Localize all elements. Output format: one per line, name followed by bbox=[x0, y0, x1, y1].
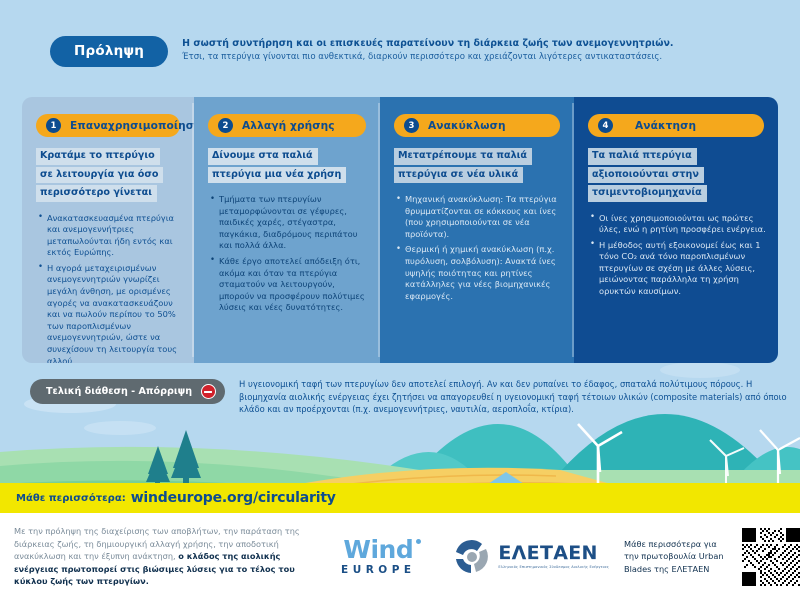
disposal-pill-label: Τελική διάθεση - Απόρριψη bbox=[46, 386, 192, 397]
eletaen-logo-subtitle: Ελληνικός Επιστημονικός Σύνδεσμος Αιολικ… bbox=[498, 566, 609, 570]
windeurope-logo: Wind EUROPE bbox=[322, 538, 434, 576]
eletaen-logo-name: ΕΛΕΤΑΕΝ bbox=[498, 544, 609, 563]
step-title-2: Αλλαγή χρήσης bbox=[242, 120, 335, 132]
disposal-text: Η υγειονομική ταφή των πτερυγίων δεν απο… bbox=[239, 378, 790, 416]
step-lead-line: Δίνουμε στα παλιά bbox=[208, 148, 318, 165]
step-number-badge-2: 2 bbox=[218, 118, 233, 133]
step-lead-line: περισσότερο γίνεται bbox=[36, 185, 157, 202]
header-text-block: Η σωστή συντήρηση και οι επισκευές παρατ… bbox=[182, 37, 673, 64]
step-lead-line: Κρατάμε το πτερύγιο bbox=[36, 148, 160, 165]
step-bullets-2: Τμήματα των πτερυγίων μεταμορφώνονται σε… bbox=[210, 194, 368, 314]
step-number-badge-1: 1 bbox=[46, 118, 61, 133]
header: Πρόληψη Η σωστή συντήρηση και οι επισκευ… bbox=[0, 34, 800, 82]
step-lead-line: σε λειτουργία για όσο bbox=[36, 167, 163, 184]
step-column-4: 4 Ανάκτηση Τα παλιά πτερύγια αξιοποιούντ… bbox=[574, 97, 778, 363]
lifecycle-panel: 1 Επαναχρησιμοποίηση Κρατάμε το πτερύγιο… bbox=[22, 97, 778, 363]
prevention-pill: Πρόληψη bbox=[50, 36, 168, 67]
step-bullets-3: Μηχανική ανακύκλωση: Τα πτερύγια θρυμματ… bbox=[396, 194, 562, 302]
step-number-badge-3: 3 bbox=[404, 118, 419, 133]
step-lead-2: Δίνουμε στα παλιά πτερύγια μια νέα χρήση bbox=[208, 148, 366, 183]
eletaen-emblem-icon bbox=[452, 539, 492, 575]
step-lead-line: Μετατρέπουμε τα παλιά bbox=[394, 148, 532, 165]
step-column-2: 2 Αλλαγή χρήσης Δίνουμε στα παλιά πτερύγ… bbox=[194, 97, 380, 363]
qr-caption: Μάθε περισσότερα για την πρωτοβουλία Urb… bbox=[624, 538, 732, 576]
step-number-badge-4: 4 bbox=[598, 118, 613, 133]
bullet-item: Μηχανική ανακύκλωση: Τα πτερύγια θρυμματ… bbox=[396, 194, 562, 240]
disposal-row: Τελική διάθεση - Απόρριψη Η υγειονομική … bbox=[30, 378, 790, 416]
step-lead-1: Κρατάμε το πτερύγιο σε λειτουργία για όσ… bbox=[36, 148, 180, 202]
step-header-4: 4 Ανάκτηση bbox=[588, 114, 764, 137]
step-column-3: 3 Ανακύκλωση Μετατρέπουμε τα παλιά πτερύ… bbox=[380, 97, 574, 363]
step-lead-line: πτερύγια σε νέα υλικά bbox=[394, 167, 523, 184]
step-header-3: 3 Ανακύκλωση bbox=[394, 114, 560, 137]
step-lead-line: τσιμεντοβιομηχανία bbox=[588, 185, 707, 202]
qr-block: Μάθε περισσότερα για την πρωτοβουλία Urb… bbox=[624, 528, 800, 586]
footer: Με την πρόληψη της διαχείρισης των αποβλ… bbox=[0, 513, 800, 600]
step-column-1: 1 Επαναχρησιμοποίηση Κρατάμε το πτερύγιο… bbox=[22, 97, 194, 363]
cta-bar: Μάθε περισσότερα: windeurope.org/circula… bbox=[0, 483, 800, 513]
header-line-2: Έτσι, τα πτερύγια γίνονται πιο ανθεκτικά… bbox=[182, 51, 673, 64]
windeurope-logo-main: Wind bbox=[343, 535, 413, 564]
step-lead-line: πτερύγια μια νέα χρήση bbox=[208, 167, 346, 184]
bullet-item: Τμήματα των πτερυγίων μεταμορφώνονται σε… bbox=[210, 194, 368, 252]
footer-summary-text: Με την πρόληψη της διαχείρισης των αποβλ… bbox=[0, 525, 314, 587]
windeurope-logo-wordmark: Wind bbox=[343, 538, 413, 562]
cta-url-link[interactable]: windeurope.org/circularity bbox=[131, 490, 336, 506]
step-lead-line: αξιοποιούνται στην bbox=[588, 167, 704, 184]
step-bullets-1: Ανακατασκευασμένα πτερύγια και ανεμογενν… bbox=[38, 213, 182, 364]
eletaen-logo: ΕΛΕΤΑΕΝ Ελληνικός Επιστημονικός Σύνδεσμο… bbox=[452, 539, 612, 575]
bullet-item: Η μέθοδος αυτή εξοικονομεί έως και 1 τόν… bbox=[590, 240, 766, 298]
step-bullets-4: Οι ίνες χρησιμοποιούνται ως πρώτες ύλες,… bbox=[590, 213, 766, 298]
step-title-3: Ανακύκλωση bbox=[428, 120, 506, 132]
no-entry-icon bbox=[201, 384, 216, 399]
eletaen-logo-text: ΕΛΕΤΑΕΝ Ελληνικός Επιστημονικός Σύνδεσμο… bbox=[498, 544, 609, 570]
step-lead-4: Τα παλιά πτερύγια αξιοποιούνται στην τσι… bbox=[588, 148, 764, 202]
step-lead-3: Μετατρέπουμε τα παλιά πτερύγια σε νέα υλ… bbox=[394, 148, 560, 183]
step-header-1: 1 Επαναχρησιμοποίηση bbox=[36, 114, 180, 137]
qr-code-icon[interactable] bbox=[742, 528, 800, 586]
windeurope-logo-dot-icon bbox=[416, 539, 421, 544]
bullet-item: Θερμική ή χημική ανακύκλωση (π.χ. πυρόλυ… bbox=[396, 244, 562, 302]
bullet-item: Κάθε έργο αποτελεί απόδειξη ότι, ακόμα κ… bbox=[210, 256, 368, 314]
bullet-item: Η αγορά μεταχειρισμένων ανεμογεννητριών … bbox=[38, 263, 182, 363]
cta-label: Μάθε περισσότερα: bbox=[16, 493, 126, 504]
bullet-item: Ανακατασκευασμένα πτερύγια και ανεμογενν… bbox=[38, 213, 182, 259]
bullet-item: Οι ίνες χρησιμοποιούνται ως πρώτες ύλες,… bbox=[590, 213, 766, 236]
disposal-pill: Τελική διάθεση - Απόρριψη bbox=[30, 379, 225, 404]
header-line-1: Η σωστή συντήρηση και οι επισκευές παρατ… bbox=[182, 37, 673, 50]
step-title-1: Επαναχρησιμοποίηση bbox=[70, 120, 202, 132]
step-lead-line: Τα παλιά πτερύγια bbox=[588, 148, 697, 165]
step-header-2: 2 Αλλαγή χρήσης bbox=[208, 114, 366, 137]
windeurope-logo-sub: EUROPE bbox=[322, 564, 434, 576]
step-title-4: Ανάκτηση bbox=[635, 120, 696, 132]
